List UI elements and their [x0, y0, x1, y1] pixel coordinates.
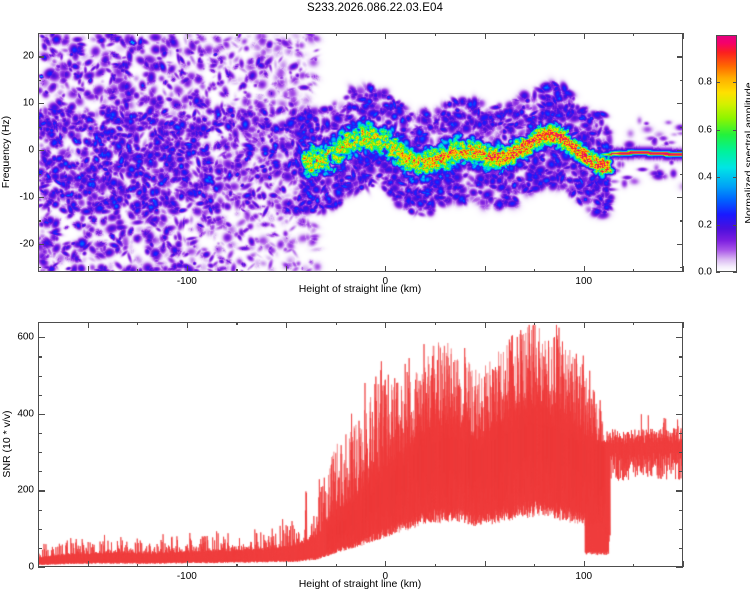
spectrogram-x-tick — [385, 266, 386, 272]
snr-x-tick — [485, 561, 486, 567]
spectrogram-y-minor-tick-right — [680, 220, 683, 221]
spectrogram-x-minor-tick — [336, 269, 337, 272]
spectrogram-x-tick-top — [88, 33, 89, 39]
snr-x-tick-top — [88, 322, 89, 328]
colorbar-tick — [716, 82, 720, 83]
snr-y-minor-tick — [38, 510, 42, 511]
spectrogram-image — [39, 34, 683, 272]
spectrogram-y-tick — [38, 197, 44, 198]
spectrogram-y-tick-right — [677, 197, 683, 198]
snr-y-minor-tick — [38, 356, 42, 357]
snr-y-tick — [38, 414, 45, 415]
spectrogram-y-minor-tick — [38, 220, 41, 221]
snr-x-tick-top — [286, 322, 287, 328]
snr-y-minor-tick-right — [679, 376, 683, 377]
spectrogram-y-tick — [38, 103, 44, 104]
spectrogram-x-tick — [485, 266, 486, 272]
spectrogram-y-minor-tick-right — [680, 127, 683, 128]
colorbar-tick-right — [733, 272, 737, 273]
spectrogram-x-tick-top — [584, 33, 585, 39]
spectrogram-x-tick — [187, 266, 188, 272]
colorbar — [716, 35, 737, 272]
snr-y-minor-tick — [38, 433, 42, 434]
spectrogram-x-minor-tick-top — [534, 33, 535, 36]
spectrogram-y-axis-title: Frequency (Hz) — [0, 112, 12, 192]
colorbar-tick — [716, 272, 720, 273]
snr-x-tick-top — [187, 322, 188, 328]
spectrogram-x-minor-tick — [534, 269, 535, 272]
snr-x-tick-top — [683, 322, 684, 328]
snr-y-minor-tick — [38, 376, 42, 377]
spectrogram-y-minor-tick — [38, 174, 41, 175]
spectrogram-x-tick-top — [385, 33, 386, 39]
spectrogram-x-minor-tick — [435, 269, 436, 272]
spectrogram-x-ticklabel: -100 — [177, 276, 197, 287]
spectrogram-x-minor-tick-top — [236, 33, 237, 36]
colorbar-tick — [716, 130, 720, 131]
snr-y-tick — [38, 567, 45, 568]
spectrogram-y-ticklabel: -10 — [2, 192, 34, 203]
snr-x-minor-tick-top — [534, 322, 535, 325]
spectrogram-y-minor-tick — [38, 80, 41, 81]
spectrogram-y-ticklabel: 10 — [2, 98, 34, 109]
colorbar-ticklabel: 0.0 — [690, 267, 712, 278]
snr-x-tick — [385, 561, 386, 567]
colorbar-ticklabel: 0.6 — [690, 124, 712, 135]
spectrogram-y-tick-right — [677, 150, 683, 151]
spectrogram-y-tick — [38, 244, 44, 245]
colorbar-tick-right — [733, 177, 737, 178]
snr-x-minor-tick — [435, 564, 436, 567]
spectrogram-y-minor-tick — [38, 33, 41, 34]
spectrogram-y-minor-tick-right — [680, 80, 683, 81]
colorbar-title: Normalized spectral amplitude — [743, 68, 750, 238]
spectrogram-y-tick — [38, 150, 44, 151]
snr-x-tick — [187, 561, 188, 567]
spectrogram-x-minor-tick — [236, 269, 237, 272]
spectrogram-y-ticklabel: -20 — [2, 238, 34, 249]
snr-y-minor-tick-right — [679, 395, 683, 396]
spectrogram-x-tick — [683, 266, 684, 272]
snr-y-tick-right — [676, 414, 683, 415]
spectrogram-y-tick-right — [677, 56, 683, 57]
snr-x-ticklabel: 100 — [575, 571, 592, 582]
snr-x-minor-tick-top — [435, 322, 436, 325]
snr-line-series — [39, 323, 683, 567]
snr-y-tick — [38, 490, 45, 491]
snr-x-minor-tick-top — [236, 322, 237, 325]
colorbar-tick-right — [733, 130, 737, 131]
snr-x-tick — [683, 561, 684, 567]
colorbar-tick-right — [733, 225, 737, 226]
colorbar-ticklabel: 0.4 — [690, 172, 712, 183]
snr-x-minor-tick-top — [633, 322, 634, 325]
snr-x-minor-tick-top — [137, 322, 138, 325]
snr-x-minor-tick — [137, 564, 138, 567]
spectrogram-x-tick-top — [286, 33, 287, 39]
spectrogram-x-minor-tick-top — [336, 33, 337, 36]
snr-x-tick — [88, 561, 89, 567]
snr-y-minor-tick — [38, 471, 42, 472]
snr-y-minor-tick-right — [679, 452, 683, 453]
figure-title: S233.2026.086.22.03.E04 — [0, 2, 750, 14]
snr-x-minor-tick-top — [38, 322, 39, 325]
snr-y-tick-right — [676, 337, 683, 338]
snr-axes — [38, 322, 683, 567]
colorbar-tick — [716, 177, 720, 178]
snr-y-minor-tick-right — [679, 510, 683, 511]
snr-y-ticklabel: 0 — [2, 562, 34, 573]
snr-y-tick-right — [676, 567, 683, 568]
snr-x-minor-tick — [236, 564, 237, 567]
snr-x-tick-top — [385, 322, 386, 328]
spectrogram-x-minor-tick-top — [633, 33, 634, 36]
spectrogram-x-tick — [88, 266, 89, 272]
spectrogram-x-minor-tick — [38, 269, 39, 272]
snr-x-minor-tick — [336, 564, 337, 567]
snr-x-tick-top — [485, 322, 486, 328]
snr-y-ticklabel: 600 — [2, 332, 34, 343]
snr-y-minor-tick-right — [679, 433, 683, 434]
spectrogram-x-minor-tick-top — [137, 33, 138, 36]
snr-x-tick — [584, 561, 585, 567]
spectrogram-y-minor-tick-right — [680, 33, 683, 34]
spectrogram-y-tick-right — [677, 103, 683, 104]
spectrogram-x-minor-tick-top — [435, 33, 436, 36]
snr-y-minor-tick-right — [679, 548, 683, 549]
spectrogram-y-minor-tick-right — [680, 267, 683, 268]
spectrogram-y-minor-tick — [38, 127, 41, 128]
colorbar-tick-right — [733, 82, 737, 83]
spectrogram-x-tick — [286, 266, 287, 272]
snr-y-axis-title: SNR (10 * v/v) — [1, 399, 13, 489]
snr-x-axis-title: Height of straight line (km) — [299, 578, 422, 590]
snr-y-minor-tick-right — [679, 529, 683, 530]
spectrogram-x-tick-top — [187, 33, 188, 39]
spectrogram-axes — [38, 33, 683, 272]
spectrogram-x-axis-title: Height of straight line (km) — [299, 283, 422, 295]
snr-x-minor-tick — [534, 564, 535, 567]
figure-root: S233.2026.086.22.03.E04 -1000100-20-1001… — [0, 0, 750, 600]
snr-x-tick-top — [584, 322, 585, 328]
spectrogram-x-tick — [584, 266, 585, 272]
spectrogram-y-minor-tick — [38, 267, 41, 268]
spectrogram-y-tick — [38, 56, 44, 57]
spectrogram-x-tick-top — [485, 33, 486, 39]
spectrogram-y-ticklabel: 20 — [2, 51, 34, 62]
spectrogram-y-minor-tick-right — [680, 174, 683, 175]
snr-y-minor-tick-right — [679, 471, 683, 472]
snr-x-ticklabel: -100 — [177, 571, 197, 582]
snr-x-tick — [286, 561, 287, 567]
spectrogram-x-minor-tick — [633, 269, 634, 272]
spectrogram-x-minor-tick — [137, 269, 138, 272]
snr-y-tick-right — [676, 490, 683, 491]
snr-y-minor-tick — [38, 548, 42, 549]
spectrogram-y-tick-right — [677, 244, 683, 245]
snr-y-minor-tick — [38, 452, 42, 453]
colorbar-tick — [716, 225, 720, 226]
spectrogram-x-ticklabel: 100 — [575, 276, 592, 287]
snr-y-minor-tick — [38, 395, 42, 396]
snr-y-minor-tick — [38, 529, 42, 530]
snr-x-minor-tick-top — [336, 322, 337, 325]
snr-y-tick — [38, 337, 45, 338]
snr-y-minor-tick-right — [679, 356, 683, 357]
snr-x-minor-tick — [633, 564, 634, 567]
colorbar-ticklabel: 0.2 — [690, 219, 712, 230]
colorbar-ticklabel: 0.8 — [690, 77, 712, 88]
spectrogram-x-tick-top — [683, 33, 684, 39]
